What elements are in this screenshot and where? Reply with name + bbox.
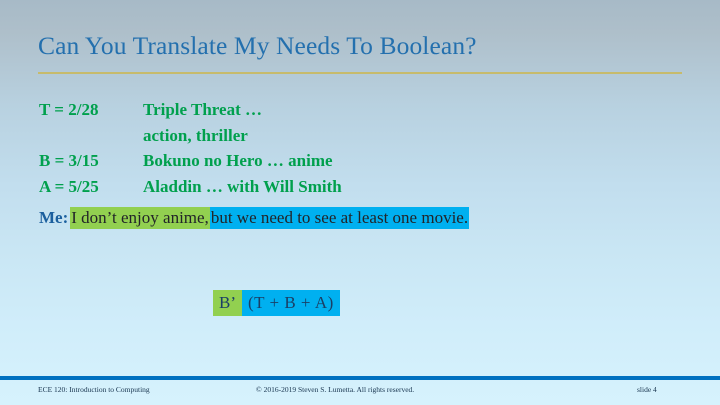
statement-clause-green: I don’t enjoy anime, bbox=[70, 207, 210, 229]
page-title: Can You Translate My Needs To Boolean? bbox=[38, 31, 688, 61]
footer-slide-number: slide 4 bbox=[637, 385, 657, 394]
movie-description: Triple Threat … bbox=[143, 97, 639, 123]
movie-code: A = 5/25 bbox=[39, 174, 143, 200]
boolean-expression: B’(T + B + A) bbox=[213, 289, 340, 316]
slide-canvas: Can You Translate My Needs To Boolean? T… bbox=[0, 0, 720, 405]
title-divider bbox=[38, 72, 682, 74]
movie-code: T = 2/28 bbox=[39, 97, 143, 123]
statement-speaker-label: Me: bbox=[39, 208, 68, 227]
statement-block: Me:I don’t enjoy anime,but we need to se… bbox=[39, 205, 509, 230]
boolean-negated-term: B’ bbox=[213, 290, 242, 316]
footer-copyright: © 2016-2019 Steven S. Lumetta. All right… bbox=[256, 385, 414, 394]
footer-course-name: ECE 120: Introduction to Computing bbox=[38, 385, 150, 394]
statement-clause-cyan: but we need to see at least one movie. bbox=[210, 207, 469, 229]
movie-description: Bokuno no Hero … anime bbox=[143, 148, 639, 174]
list-item: action, thriller bbox=[39, 123, 639, 149]
movie-code: B = 3/15 bbox=[39, 148, 143, 174]
boolean-sum-term: (T + B + A) bbox=[242, 290, 340, 316]
movie-description: Aladdin … with Will Smith bbox=[143, 174, 639, 200]
list-item: T = 2/28 Triple Threat … bbox=[39, 97, 639, 123]
list-item: B = 3/15 Bokuno no Hero … anime bbox=[39, 148, 639, 174]
list-item: A = 5/25 Aladdin … with Will Smith bbox=[39, 174, 639, 200]
movie-description: action, thriller bbox=[143, 123, 639, 149]
footer: ECE 120: Introduction to Computing © 201… bbox=[0, 383, 720, 401]
footer-divider bbox=[0, 376, 720, 380]
movie-list: T = 2/28 Triple Threat … action, thrille… bbox=[39, 97, 639, 199]
